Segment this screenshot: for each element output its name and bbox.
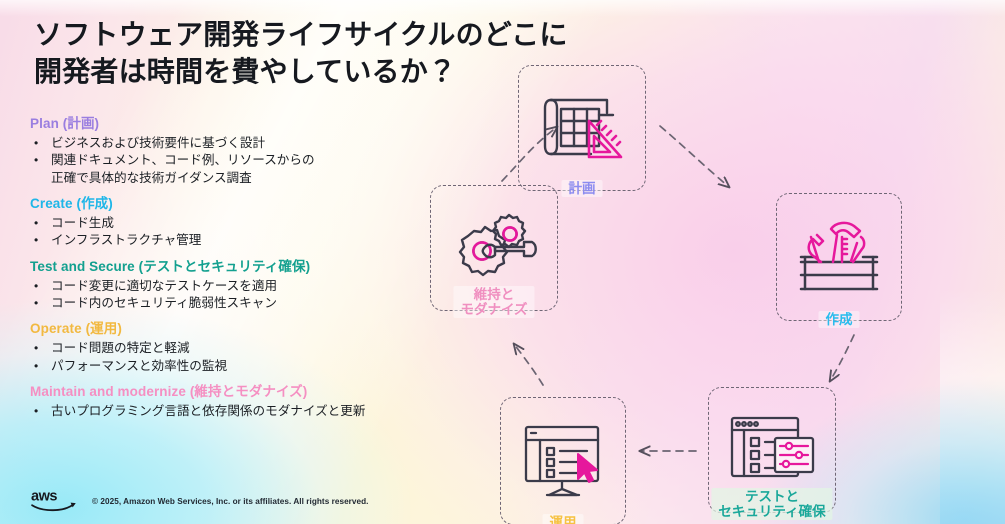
bullet-line-1: 関連ドキュメント、コード例、リソースからの (51, 153, 315, 167)
cycle-node-create[interactable]: 作成 (776, 193, 902, 321)
bullet-line-1: コード変更に適切なテストケースを適用 (51, 279, 277, 293)
browser-checklist-sliders-icon (727, 412, 817, 488)
cycle-node-label-plan: 計画 (562, 180, 603, 197)
phase-group-test: Test and Secure (テストとセキュリティ確保) • コード変更に適… (30, 259, 460, 313)
arrow-plan-to-create (660, 126, 729, 187)
phase-title-operate: Operate (運用) (30, 321, 460, 338)
label-line-1: 計画 (569, 181, 596, 196)
bullet-marker: • (30, 278, 51, 295)
bullet-marker: • (30, 295, 51, 312)
bullet-text: コード生成 (51, 215, 460, 232)
phase-title-create: Create (作成) (30, 196, 460, 213)
bullet-text: 関連ドキュメント、コード例、リソースからの 正確で具体的な技術ガイダンス調査 (51, 152, 460, 187)
bullet-marker: • (30, 232, 51, 249)
label-line-1: 維持と (474, 287, 515, 302)
bullet-line-1: コード内のセキュリティ脆弱性スキャン (51, 296, 277, 310)
slide-canvas: ソフトウェア開発ライフサイクルのどこに 開発者は時間を費やしているか？ Plan… (0, 0, 1005, 524)
bullet-line-1: インフラストラクチャ管理 (51, 233, 201, 247)
bullet-text: コード内のセキュリティ脆弱性スキャン (51, 295, 460, 312)
bullet-marker: • (30, 340, 51, 357)
bullet-marker: • (30, 358, 51, 375)
bullet-text: コード変更に適切なテストケースを適用 (51, 278, 460, 295)
bullet-text: 古いプログラミング言語と依存関係のモダナイズと更新 (51, 403, 460, 420)
list-item: • コード内のセキュリティ脆弱性スキャン (30, 295, 460, 312)
aws-logo: aws (30, 486, 82, 512)
copyright-text: © 2025, Amazon Web Services, Inc. or its… (92, 497, 369, 506)
list-item: • パフォーマンスと効率性の監視 (30, 358, 460, 375)
phase-title-plan: Plan (計画) (30, 116, 460, 133)
bullet-marker: • (30, 403, 51, 420)
list-item: • 古いプログラミング言語と依存関係のモダナイズと更新 (30, 403, 460, 420)
bullet-marker: • (30, 152, 51, 169)
svg-text:aws: aws (31, 489, 57, 505)
bullet-text: インフラストラクチャ管理 (51, 232, 460, 249)
bullet-text: コード問題の特定と軽減 (51, 340, 460, 357)
cycle-node-plan[interactable]: 計画 (518, 65, 646, 191)
bullet-text: ビジネスおよび技術要件に基づく設計 (51, 135, 460, 152)
arrow-create-to-test (830, 335, 854, 381)
phase-group-operate: Operate (運用) • コード問題の特定と軽減 • パフォーマンスと効率性… (30, 321, 460, 375)
bullet-line-1: 古いプログラミング言語と依存関係のモダナイズと更新 (51, 404, 365, 418)
arrow-operate-to-maintain (514, 344, 543, 385)
bullet-marker: • (30, 135, 51, 152)
bullet-line-1: パフォーマンスと効率性の監視 (51, 359, 227, 373)
bullet-text: パフォーマンスと効率性の監視 (51, 358, 460, 375)
bullet-line-1: ビジネスおよび技術要件に基づく設計 (51, 136, 265, 150)
phase-list: Plan (計画) • ビジネスおよび技術要件に基づく設計 • 関連ドキュメント… (30, 116, 460, 429)
cycle-node-maintain[interactable]: 維持と モダナイズ (430, 185, 558, 311)
list-item: • コード問題の特定と軽減 (30, 340, 460, 357)
list-item: • コード変更に適切なテストケースを適用 (30, 278, 460, 295)
gears-wrench-icon (448, 211, 540, 285)
toolbox-icon (797, 217, 881, 297)
label-line-2: モダナイズ (460, 302, 527, 317)
bullet-line-2: 正確で具体的な技術ガイダンス調査 (51, 170, 460, 187)
bullet-line-1: コード問題の特定と軽減 (51, 341, 190, 355)
phase-group-create: Create (作成) • コード生成 • インフラストラクチャ管理 (30, 196, 460, 250)
list-item: • インフラストラクチャ管理 (30, 232, 460, 249)
list-item: • 関連ドキュメント、コード例、リソースからの 正確で具体的な技術ガイダンス調査 (30, 152, 460, 187)
phase-group-plan: Plan (計画) • ビジネスおよび技術要件に基づく設計 • 関連ドキュメント… (30, 116, 460, 187)
list-item: • ビジネスおよび技術要件に基づく設計 (30, 135, 460, 152)
slide-footer: aws © 2025, Amazon Web Services, Inc. or… (0, 478, 1005, 524)
list-item: • コード生成 (30, 215, 460, 232)
bullet-marker: • (30, 215, 51, 232)
label-line-1: 作成 (826, 312, 853, 327)
cycle-node-label-maintain: 維持と モダナイズ (453, 286, 534, 318)
sdlc-cycle-diagram: 計画 (418, 42, 978, 520)
cycle-node-label-create: 作成 (819, 311, 860, 328)
bullet-line-1: コード生成 (51, 216, 114, 230)
blueprint-ruler-icon (539, 91, 625, 165)
phase-title-maintain: Maintain and modernize (維持とモダナイズ) (30, 384, 460, 401)
phase-group-maintain: Maintain and modernize (維持とモダナイズ) • 古いプロ… (30, 384, 460, 420)
phase-title-test: Test and Secure (テストとセキュリティ確保) (30, 259, 460, 276)
